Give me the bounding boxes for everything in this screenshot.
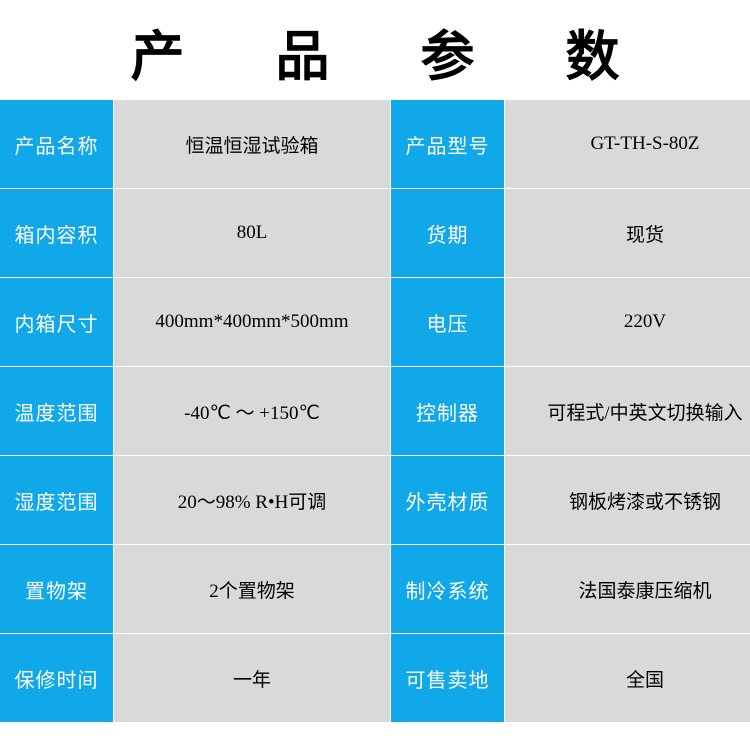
table-row: 温度范围 -40℃ ～ +150℃ 控制器 可程式/中英文切换输入 <box>0 367 750 456</box>
spec-value: 80L <box>114 189 391 278</box>
spec-value: 400mm*400mm*500mm <box>114 278 391 367</box>
spec-label: 制冷系统 <box>391 545 505 634</box>
spec-value: 钢板烤漆或不锈钢 <box>505 456 750 545</box>
spec-value: GT-TH-S-80Z <box>505 100 750 189</box>
spec-value: 20～98% R•H可调 <box>114 456 391 545</box>
table-row: 内箱尺寸 400mm*400mm*500mm 电压 220V <box>0 278 750 367</box>
spec-value: 220V <box>505 278 750 367</box>
spec-value: 全国 <box>505 634 750 723</box>
spec-label: 可售卖地 <box>391 634 505 723</box>
page-title: 产 品 参 数 <box>0 0 750 98</box>
spec-value: 法国泰康压缩机 <box>505 545 750 634</box>
spec-value: 2个置物架 <box>114 545 391 634</box>
spec-label: 产品名称 <box>0 100 114 189</box>
spec-label: 产品型号 <box>391 100 505 189</box>
table-row: 保修时间 一年 可售卖地 全国 <box>0 634 750 723</box>
spec-label: 置物架 <box>0 545 114 634</box>
spec-label: 内箱尺寸 <box>0 278 114 367</box>
spec-value: 恒温恒湿试验箱 <box>114 100 391 189</box>
specification-table: 产品名称 恒温恒湿试验箱 产品型号 GT-TH-S-80Z 箱内容积 80L 货… <box>0 100 750 722</box>
spec-label: 湿度范围 <box>0 456 114 545</box>
spec-label: 箱内容积 <box>0 189 114 278</box>
table-row: 产品名称 恒温恒湿试验箱 产品型号 GT-TH-S-80Z <box>0 100 750 189</box>
product-spec-page: 产 品 参 数 产品名称 恒温恒湿试验箱 产品型号 GT-TH-S-80Z 箱内… <box>0 0 750 750</box>
spec-label: 保修时间 <box>0 634 114 723</box>
table-row: 箱内容积 80L 货期 现货 <box>0 189 750 278</box>
spec-value: -40℃ ～ +150℃ <box>114 367 391 456</box>
spec-value: 一年 <box>114 634 391 723</box>
spec-label: 货期 <box>391 189 505 278</box>
spec-label: 温度范围 <box>0 367 114 456</box>
spec-value: 现货 <box>505 189 750 278</box>
table-row: 置物架 2个置物架 制冷系统 法国泰康压缩机 <box>0 545 750 634</box>
spec-label: 控制器 <box>391 367 505 456</box>
spec-label: 电压 <box>391 278 505 367</box>
spec-value: 可程式/中英文切换输入 <box>505 367 750 456</box>
spec-label: 外壳材质 <box>391 456 505 545</box>
table-row: 湿度范围 20～98% R•H可调 外壳材质 钢板烤漆或不锈钢 <box>0 456 750 545</box>
